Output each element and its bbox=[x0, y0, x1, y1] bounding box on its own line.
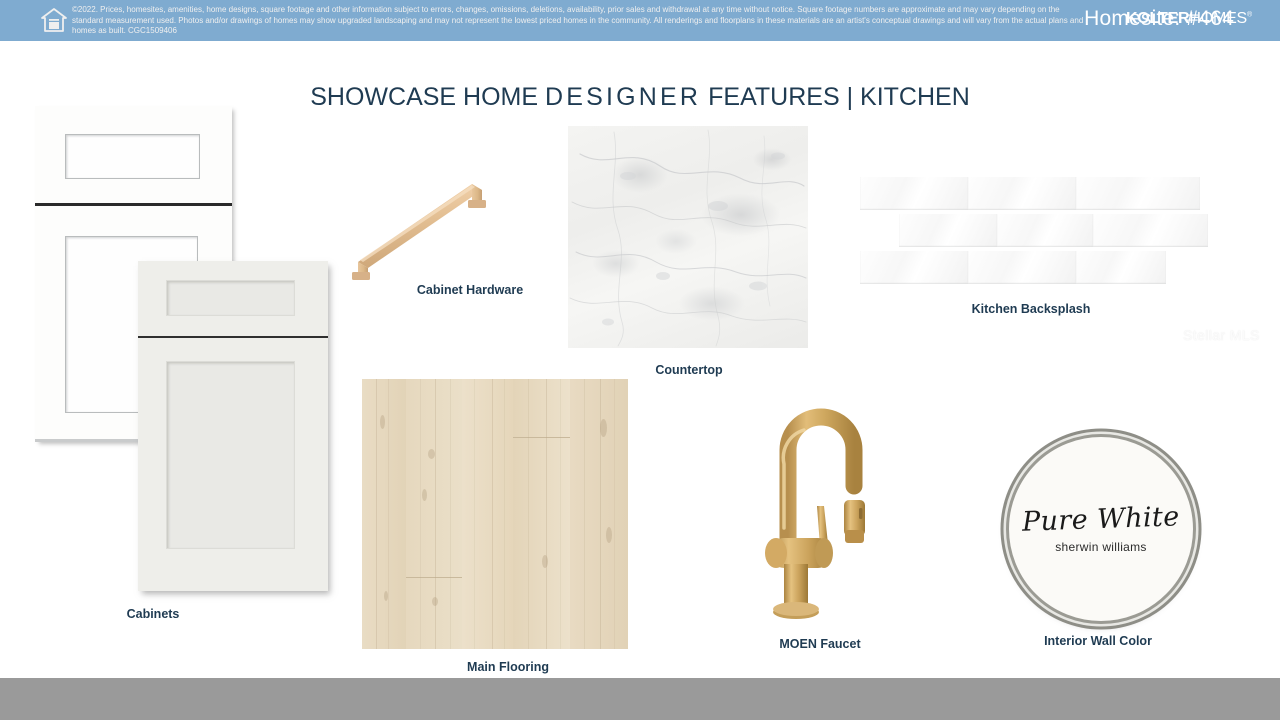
cabinet-door-sample-front bbox=[138, 261, 328, 591]
footer-disclaimer: ©2022. Prices, homesites, amenities, hom… bbox=[72, 5, 1092, 37]
tile-row bbox=[860, 251, 1208, 284]
logo-trademark: ® bbox=[1247, 12, 1252, 19]
flooring-swatch bbox=[362, 379, 628, 649]
paint-brand-name: sherwin williams bbox=[1055, 540, 1146, 554]
footer-bar bbox=[0, 678, 1280, 720]
tile bbox=[968, 177, 1077, 210]
cabinet-door-panel bbox=[166, 361, 295, 549]
cabinet-drawer-panel bbox=[65, 134, 200, 179]
tile bbox=[968, 251, 1077, 284]
kolter-homes-logo: KOLTERHOMES® bbox=[1126, 10, 1252, 28]
faucet-icon bbox=[748, 378, 913, 623]
tile bbox=[899, 214, 998, 247]
label-main-flooring: Main Flooring bbox=[428, 660, 588, 674]
cabinet-seam bbox=[35, 203, 232, 206]
tile bbox=[1076, 251, 1166, 284]
label-cabinets: Cabinets bbox=[78, 607, 228, 621]
label-interior-wall-color: Interior Wall Color bbox=[1018, 634, 1178, 648]
cabinet-drawer-panel bbox=[166, 280, 295, 316]
cabinet-seam bbox=[138, 336, 328, 338]
plank-seam bbox=[513, 437, 570, 438]
page-title-part3: FEATURES | KITCHEN bbox=[701, 83, 970, 111]
label-cabinet-hardware: Cabinet Hardware bbox=[390, 283, 550, 297]
tile bbox=[1093, 214, 1208, 247]
tile bbox=[1076, 177, 1200, 210]
label-kitchen-backsplash: Kitchen Backsplash bbox=[950, 302, 1112, 316]
tile bbox=[997, 214, 1094, 247]
logo-homes: HOMES bbox=[1189, 10, 1247, 27]
page-title-part2: DESIGNER bbox=[545, 83, 701, 111]
equal-housing-opportunity-icon bbox=[40, 6, 68, 36]
label-countertop: Countertop bbox=[610, 363, 768, 377]
tile-row bbox=[899, 214, 1247, 247]
paint-color-name: Pure White bbox=[1022, 501, 1181, 537]
countertop-swatch bbox=[568, 126, 808, 348]
logo-kolter: KOLTER bbox=[1126, 10, 1189, 27]
plank-seam bbox=[406, 577, 462, 578]
floor-plank bbox=[570, 379, 628, 649]
paint-can-swatch: Pure White sherwin williams bbox=[1006, 434, 1196, 624]
tile-row bbox=[860, 177, 1208, 210]
floor-plank bbox=[462, 379, 514, 649]
stellar-mls-watermark: Stellar MLS bbox=[1183, 327, 1260, 343]
cabinet-hardware-pull-icon bbox=[348, 168, 498, 288]
tile bbox=[860, 177, 969, 210]
page-title-part1: SHOWCASE HOME bbox=[310, 83, 545, 111]
tile bbox=[860, 251, 969, 284]
label-moen-faucet: MOEN Faucet bbox=[740, 637, 900, 651]
backsplash-swatch bbox=[860, 177, 1208, 284]
floor-plank bbox=[513, 379, 571, 649]
